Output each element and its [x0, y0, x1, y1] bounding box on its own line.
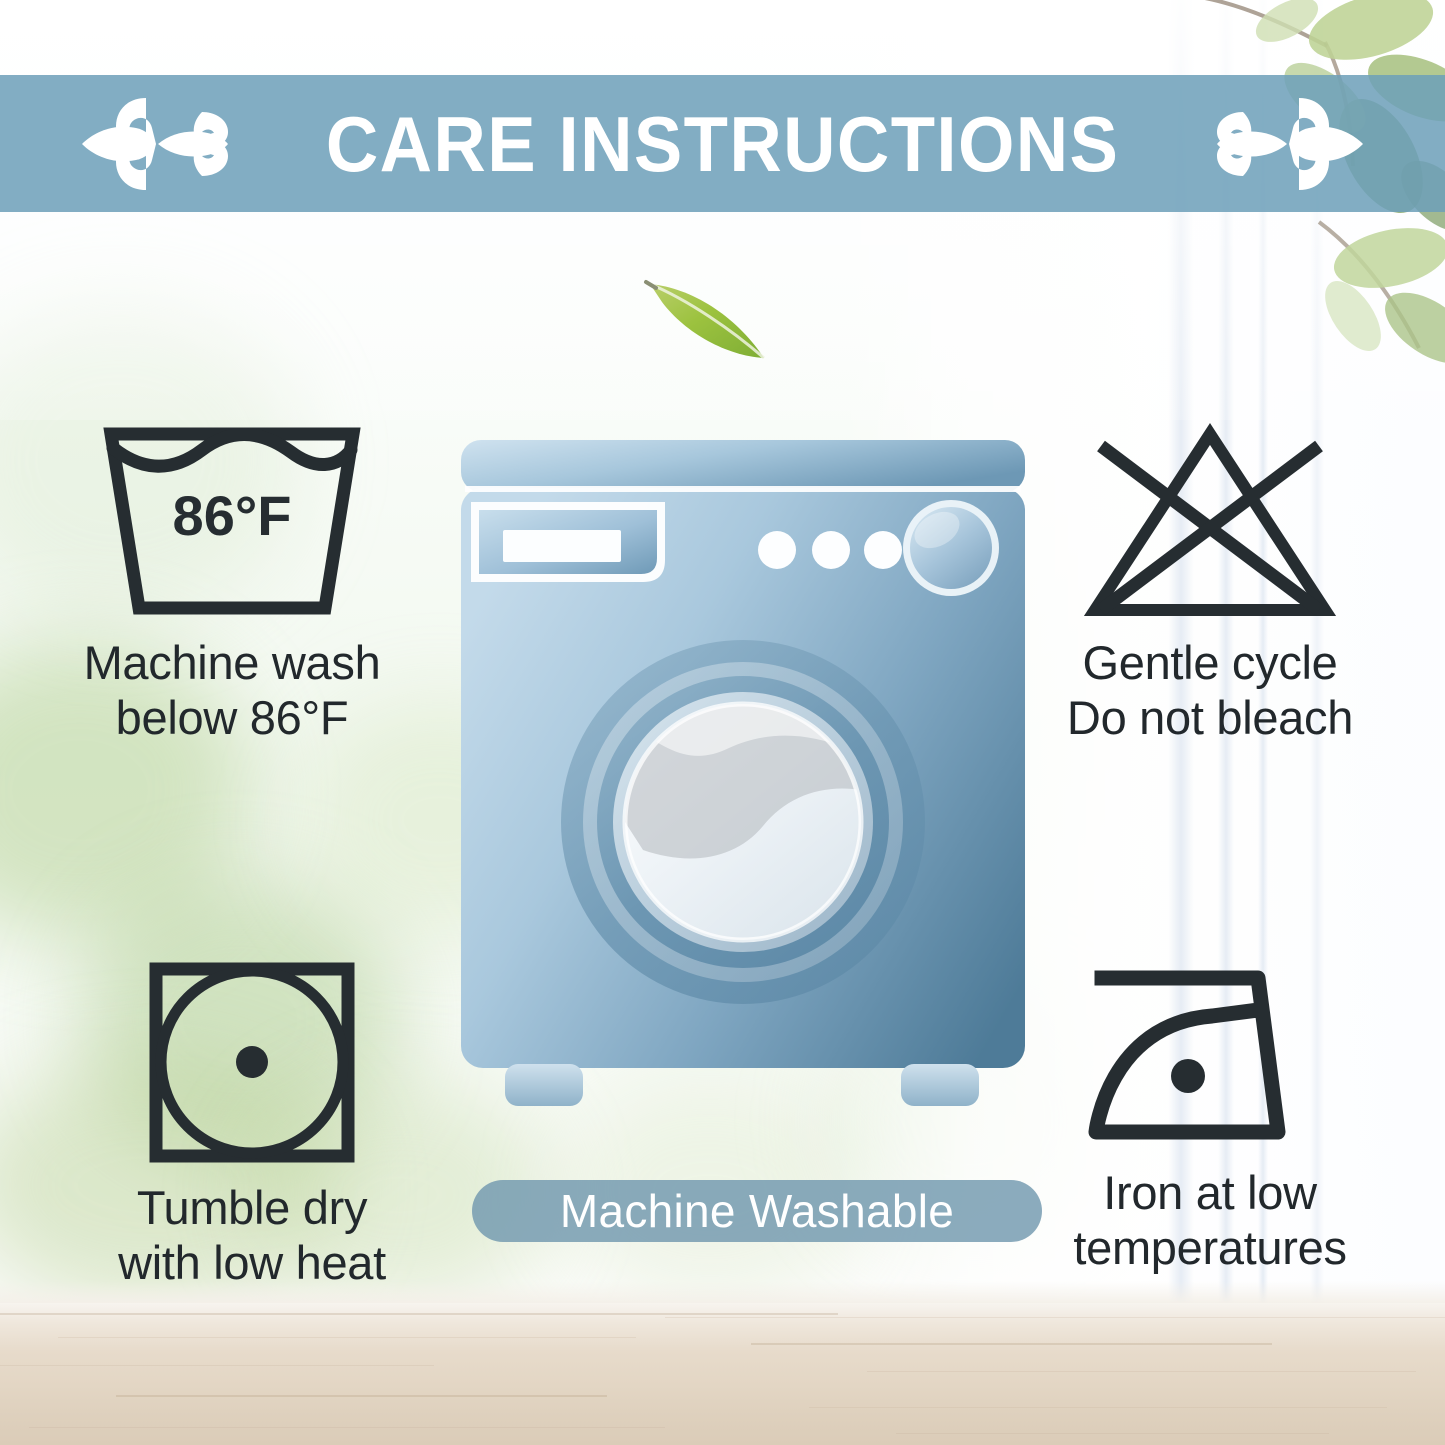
label-line: Gentle cycle — [1067, 636, 1353, 691]
wash-tub-icon: 86°F — [101, 420, 363, 620]
control-button[interactable] — [758, 531, 796, 569]
triangle-crossed-icon — [1079, 420, 1341, 620]
label-line: Do not bleach — [1067, 691, 1353, 746]
label-line: below 86°F — [84, 691, 381, 746]
wood-grain — [116, 1395, 607, 1397]
label-line: Machine wash — [84, 636, 381, 691]
wood-grain — [809, 1407, 1387, 1408]
detergent-drawer[interactable] — [471, 502, 665, 582]
label-line: Tumble dry — [118, 1181, 386, 1236]
wood-grain — [665, 1317, 1445, 1318]
wood-grain — [58, 1337, 636, 1338]
wood-table-surface — [0, 1303, 1445, 1445]
control-button[interactable] — [864, 531, 902, 569]
care-icon-label: Tumble dry with low heat — [118, 1181, 386, 1291]
wood-grain — [0, 1313, 838, 1315]
iron-low-icon — [1082, 960, 1338, 1150]
care-icon-label: Gentle cycle Do not bleach — [1067, 636, 1353, 746]
machine-foot — [505, 1064, 583, 1106]
table-edge — [0, 1281, 1445, 1303]
badge-label: Machine Washable — [560, 1188, 954, 1234]
drawer-handle[interactable] — [503, 530, 621, 562]
control-button[interactable] — [812, 531, 850, 569]
wood-grain — [896, 1433, 1330, 1434]
care-icon-label: Machine wash below 86°F — [84, 636, 381, 746]
wood-grain — [751, 1343, 1271, 1345]
washing-machine-illustration — [443, 430, 1043, 1130]
leaf-branch-icon — [1223, 188, 1445, 428]
fleur-de-lis-ornament-icon — [1195, 90, 1363, 198]
program-knob[interactable] — [903, 500, 999, 596]
banner: CARE INSTRUCTIONS — [0, 75, 1445, 212]
machine-seam — [465, 486, 1021, 492]
floating-leaf-icon — [640, 272, 780, 372]
dry-heat-dot — [236, 1046, 268, 1078]
page-title: CARE INSTRUCTIONS — [326, 105, 1119, 183]
wood-grain — [0, 1365, 434, 1366]
wash-temperature-value: 86°F — [173, 484, 292, 547]
care-icon-do-not-bleach: Gentle cycle Do not bleach — [1000, 420, 1420, 746]
machine-washable-badge: Machine Washable — [472, 1180, 1042, 1242]
iron-heat-dot — [1171, 1059, 1205, 1093]
care-icon-iron: Iron at low temperatures — [1000, 960, 1420, 1276]
care-icon-tumble-dry: Tumble dry with low heat — [42, 960, 462, 1291]
care-instructions-infographic: CARE INSTRUCTIONS — [0, 0, 1445, 1445]
machine-foot — [901, 1064, 979, 1106]
machine-top-lid — [461, 440, 1025, 492]
tumble-dry-low-icon — [147, 960, 357, 1165]
care-icon-label: Iron at low temperatures — [1073, 1166, 1346, 1276]
care-icon-machine-wash: 86°F Machine wash below 86°F — [22, 420, 442, 746]
fleur-de-lis-ornament-icon — [82, 90, 250, 198]
wood-grain — [867, 1371, 1416, 1372]
label-line: temperatures — [1073, 1221, 1346, 1276]
machine-door[interactable] — [561, 640, 925, 1004]
label-line: Iron at low — [1073, 1166, 1346, 1221]
wood-grain — [29, 1427, 665, 1428]
